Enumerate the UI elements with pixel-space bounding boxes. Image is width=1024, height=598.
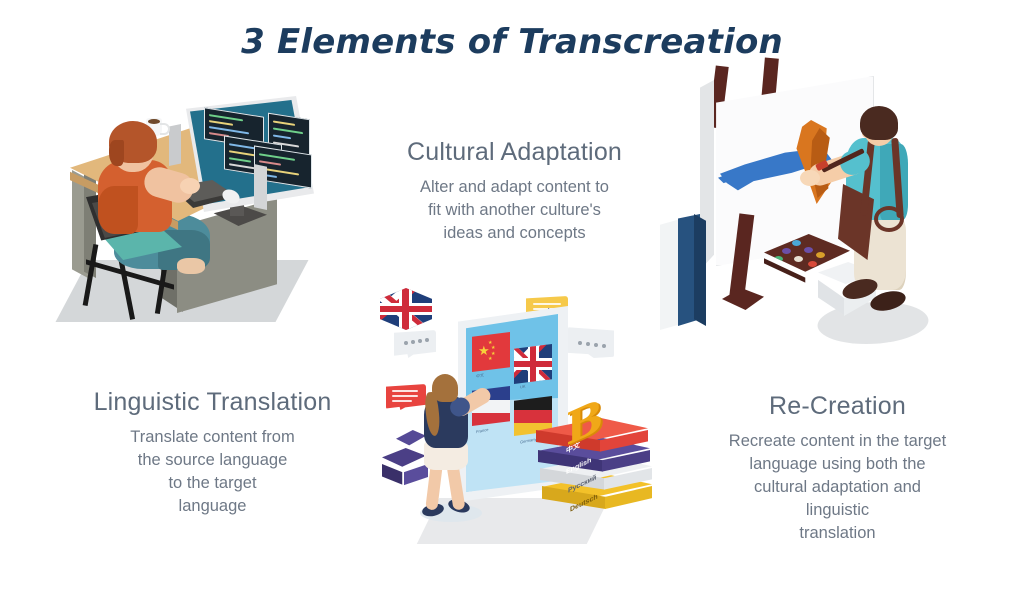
element-block-linguistic-translation: Linguistic Translation Translate content… xyxy=(50,388,375,518)
purple-block xyxy=(404,464,428,488)
body-line: linguistic xyxy=(675,499,1000,522)
element-block-cultural-adaptation: Cultural Adaptation Alter and adapt cont… xyxy=(352,138,677,245)
body-re-creation: Recreate content in the target language … xyxy=(675,430,1000,545)
person-torso-shade xyxy=(98,186,138,234)
easel-foot xyxy=(722,288,764,310)
body-line: Alter and adapt content to xyxy=(352,176,677,199)
coffee-mug-liquid xyxy=(148,119,160,124)
infographic-canvas: 3 Elements of Transcreation xyxy=(0,0,1024,598)
body-line: fit with another culture's xyxy=(352,199,677,222)
illustration-artist-painting xyxy=(668,66,968,376)
element-block-re-creation: Re-Creation Recreate content in the targ… xyxy=(675,392,1000,545)
artist-hand xyxy=(800,170,820,186)
coffee-mug-handle xyxy=(160,123,170,135)
heading-re-creation: Re-Creation xyxy=(675,392,1000,421)
uk-flag-badge xyxy=(380,288,432,330)
letter-b-ornament: B xyxy=(566,390,600,451)
artist-hair xyxy=(860,106,898,140)
person-hair-side xyxy=(109,140,124,166)
body-line: Recreate content in the target xyxy=(675,430,1000,453)
person-shoe xyxy=(177,258,205,274)
body-line: Translate content from xyxy=(50,426,375,449)
artist-apron-knot xyxy=(874,206,904,232)
illustration-language-tablet: ★ ★ ★ ★ ★ 中文 UK France G xyxy=(380,288,665,568)
body-line: ideas and concepts xyxy=(352,222,677,245)
woman-hair xyxy=(432,374,458,402)
heading-cultural-adaptation: Cultural Adaptation xyxy=(352,138,677,167)
illustration-person-at-desk xyxy=(62,78,352,328)
flag-tile-china[interactable]: ★ ★ ★ ★ ★ xyxy=(472,332,510,372)
body-linguistic-translation: Translate content from the source langua… xyxy=(50,426,375,518)
body-line: to the target xyxy=(50,472,375,495)
body-line: language using both the xyxy=(675,453,1000,476)
speech-bubble-red xyxy=(386,384,426,410)
body-line: language xyxy=(50,495,375,518)
speech-bubble-gray-right xyxy=(568,326,614,358)
heading-linguistic-translation: Linguistic Translation xyxy=(50,388,375,417)
speech-bubble-gray-left xyxy=(394,330,436,358)
person-hand xyxy=(180,178,200,194)
body-cultural-adaptation: Alter and adapt content to fit with anot… xyxy=(352,176,677,245)
speaker-right xyxy=(254,164,267,210)
speaker-left xyxy=(169,124,181,166)
flag-tile-uk[interactable] xyxy=(514,344,552,384)
purple-block xyxy=(396,430,426,452)
blank-board-blue-face xyxy=(694,214,706,326)
body-line: translation xyxy=(675,522,1000,545)
body-line: cultural adaptation and xyxy=(675,476,1000,499)
body-line: the source language xyxy=(50,449,375,472)
page-title: 3 Elements of Transcreation xyxy=(0,22,1024,62)
